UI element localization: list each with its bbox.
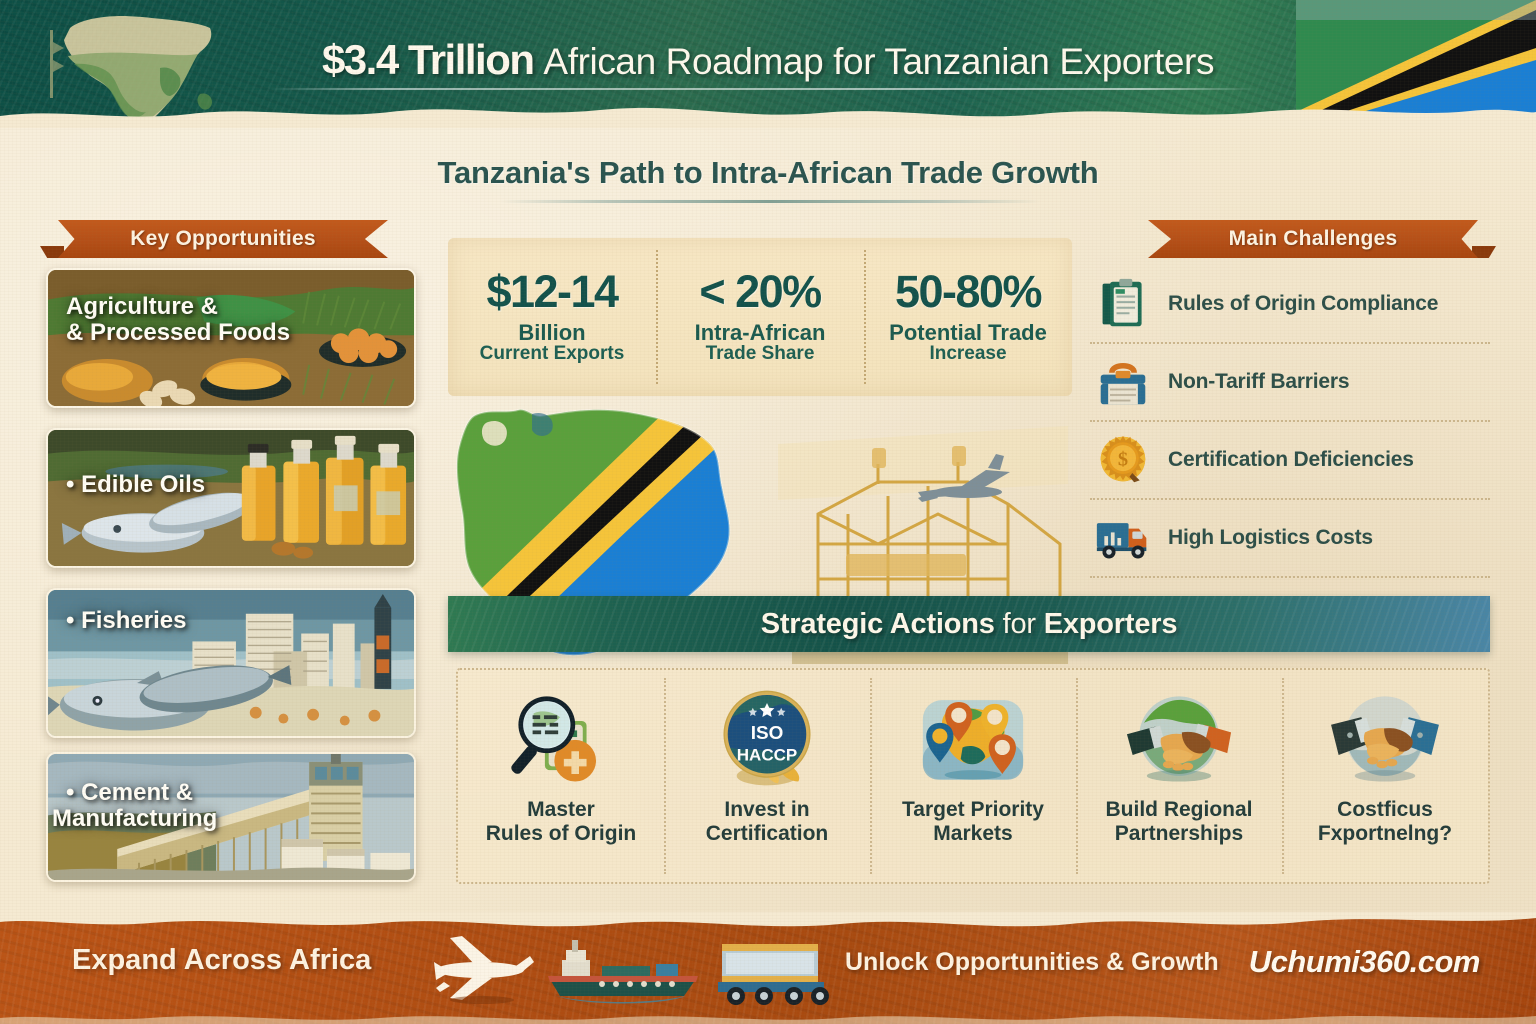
main-challenges-ribbon: Main Challenges <box>1148 220 1478 258</box>
handshake-suits-icon <box>1326 682 1444 794</box>
opportunity-label-line1: Agriculture & <box>66 293 218 320</box>
opportunity-label-line2: Manufacturing <box>52 806 217 832</box>
cargo-ship-icon <box>548 940 698 1004</box>
subtitle: Tanzania's Path to Intra-African Trade G… <box>0 155 1536 191</box>
sa-title-bold: Strategic Actions <box>761 608 995 640</box>
airplane-icon <box>434 936 534 1000</box>
action-line1: Target Priority <box>902 798 1044 822</box>
handshake-globe-icon <box>1120 682 1238 794</box>
action-line1: Build Regional <box>1106 798 1253 822</box>
stat-line2: Trade Share <box>706 344 815 365</box>
opportunity-card-cement[interactable]: • Cement & Manufacturing <box>46 752 416 882</box>
stat-line2: Increase <box>929 344 1006 365</box>
strategic-actions-title: Strategic Actions for Exporters <box>761 608 1178 641</box>
action-line1: Invest in <box>724 798 809 822</box>
action-line1: Master <box>527 798 595 822</box>
action-line2: Certification <box>706 822 829 846</box>
action-line2: Partnerships <box>1115 822 1243 846</box>
stat-line1: Intra-African <box>695 321 826 344</box>
map-pins-globe-icon <box>914 682 1032 794</box>
opportunity-label-line1: • Cement & <box>66 779 193 806</box>
sa-title-light: for <box>1003 608 1036 640</box>
toolbox-barrier-icon <box>1094 353 1152 411</box>
footer-mid-text: Unlock Opportunities & Growth <box>845 948 1219 977</box>
challenge-label: Certification Deficiencies <box>1168 448 1414 472</box>
opportunity-label-line1: • Fisheries <box>66 607 186 634</box>
stat-line2: Current Exports <box>480 344 625 365</box>
stat-line1: Potential Trade <box>889 321 1047 344</box>
footer-brand[interactable]: Uchumi360.com <box>1249 944 1480 980</box>
opportunity-card-fisheries[interactable]: • Fisheries <box>46 588 416 738</box>
action-line2: Fxportnelng? <box>1318 822 1452 846</box>
fish-and-oil-bottles-photo <box>48 430 414 568</box>
challenge-label: Rules of Origin Compliance <box>1168 292 1438 316</box>
opportunity-label-edible-oils: • Edible Oils <box>66 472 205 498</box>
footer-transport-icons <box>430 926 830 1008</box>
stat-potential-increase: 50-80% Potential Trade Increase <box>864 238 1072 396</box>
stat-current-exports: $12-14 Billion Current Exports <box>448 238 656 396</box>
iso-badge-top-text: ISO <box>751 723 784 744</box>
page-title-rest: African Roadmap for Tanzanian Exporters <box>543 41 1214 82</box>
iso-haccp-badge-icon: ISO HACCP <box>708 682 826 794</box>
key-opportunities-label: Key Opportunities <box>130 227 315 251</box>
footer-left-text: Expand Across Africa <box>72 944 371 977</box>
action-card-cost-focus[interactable]: Costficus Fxportnelng? <box>1282 670 1488 882</box>
challenge-row-rules-of-origin[interactable]: Rules of Origin Compliance <box>1090 266 1490 344</box>
strategic-actions-banner: Strategic Actions for Exporters <box>448 596 1490 652</box>
challenge-row-certification[interactable]: $ Certification Deficiencies <box>1090 422 1490 500</box>
opportunity-label-line1: • Edible Oils <box>66 471 205 498</box>
clipboard-document-icon <box>1094 275 1152 333</box>
opportunity-label-fisheries: • Fisheries <box>66 608 186 634</box>
action-line2: Markets <box>933 822 1012 846</box>
opportunity-label-agriculture: Agriculture & & Processed Foods <box>66 294 290 347</box>
opportunity-label-line2: & Processed Foods <box>66 319 290 346</box>
opportunity-card-agriculture[interactable]: Agriculture & & Processed Foods <box>46 268 416 408</box>
action-card-target-priority-markets[interactable]: Target Priority Markets <box>870 670 1076 882</box>
stat-intra-african-share: < 20% Intra-African Trade Share <box>656 238 864 396</box>
action-card-build-regional-partnerships[interactable]: Build Regional Partnerships <box>1076 670 1282 882</box>
action-card-master-rules-of-origin[interactable]: Master Rules of Origin <box>458 670 664 882</box>
magnifier-document-icon <box>502 682 620 794</box>
sa-title-bold2: Exporters <box>1044 608 1178 640</box>
stat-line1: Billion <box>518 321 585 344</box>
opportunity-card-edible-oils[interactable]: • Edible Oils <box>46 428 416 568</box>
challenge-row-non-tariff-barriers[interactable]: Non-Tariff Barriers <box>1090 344 1490 422</box>
infographic-root: $3.4 Trillion African Roadmap for Tanzan… <box>0 0 1536 1024</box>
stat-value: 50-80% <box>895 269 1041 314</box>
opportunity-label-cement: • Cement & Manufacturing <box>66 780 217 833</box>
header-torn-edge <box>0 100 1536 128</box>
header-banner: $3.4 Trillion African Roadmap for Tanzan… <box>0 0 1536 128</box>
challenge-label: Non-Tariff Barriers <box>1168 370 1349 394</box>
header-underline <box>268 88 1258 90</box>
key-opportunities-ribbon: Key Opportunities <box>58 220 388 258</box>
main-challenges-label: Main Challenges <box>1229 227 1398 251</box>
dollar-seal-badge-icon: $ <box>1094 431 1152 489</box>
page-title-amount: $3.4 Trillion <box>322 36 534 83</box>
action-card-invest-certification[interactable]: ISO HACCP Invest in Certification <box>664 670 870 882</box>
challenges-list: Rules of Origin Compliance Non-Tariff Ba… <box>1090 266 1490 578</box>
cargo-truck-icon <box>718 944 829 1005</box>
subtitle-underline <box>500 200 1040 203</box>
challenge-label: High Logistics Costs <box>1168 526 1373 550</box>
iso-badge-bottom-text: HACCP <box>737 746 798 765</box>
action-line2: Rules of Origin <box>486 822 637 846</box>
delivery-truck-icon <box>1094 509 1152 567</box>
action-line1: Costficus <box>1337 798 1433 822</box>
footer-banner: Expand Across Africa <box>0 912 1536 1024</box>
page-title: $3.4 Trillion African Roadmap for Tanzan… <box>0 36 1536 84</box>
strategic-actions-cards: Master Rules of Origin <box>456 668 1490 884</box>
challenge-row-logistics-costs[interactable]: High Logistics Costs <box>1090 500 1490 578</box>
stat-value: $12-14 <box>486 269 617 314</box>
svg-text:$: $ <box>1118 449 1128 471</box>
key-stats-panel: $12-14 Billion Current Exports < 20% Int… <box>448 238 1072 396</box>
stat-value: < 20% <box>699 269 820 314</box>
